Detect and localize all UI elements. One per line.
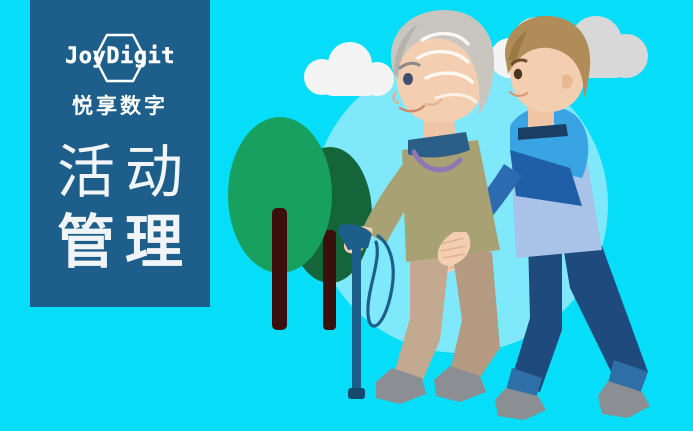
tree-front: [228, 117, 332, 330]
page-title-line-2: 管理: [30, 208, 210, 278]
cloud-left: [304, 42, 394, 96]
brand-chinese-name: 悦享数字: [30, 94, 210, 120]
brand-block: JoyDigit 悦享数字: [30, 30, 210, 120]
elderly-care-walking-illustration: [210, 0, 693, 431]
page-title-line-1: 活动: [30, 138, 210, 208]
logo-wordmark: JoyDigit: [30, 44, 210, 70]
page-title: 活动 管理: [30, 138, 210, 278]
poster-canvas: JoyDigit 悦享数字 活动 管理: [0, 0, 693, 431]
brand-panel: JoyDigit 悦享数字 活动 管理: [30, 0, 210, 307]
logo-mark: JoyDigit: [30, 30, 210, 86]
